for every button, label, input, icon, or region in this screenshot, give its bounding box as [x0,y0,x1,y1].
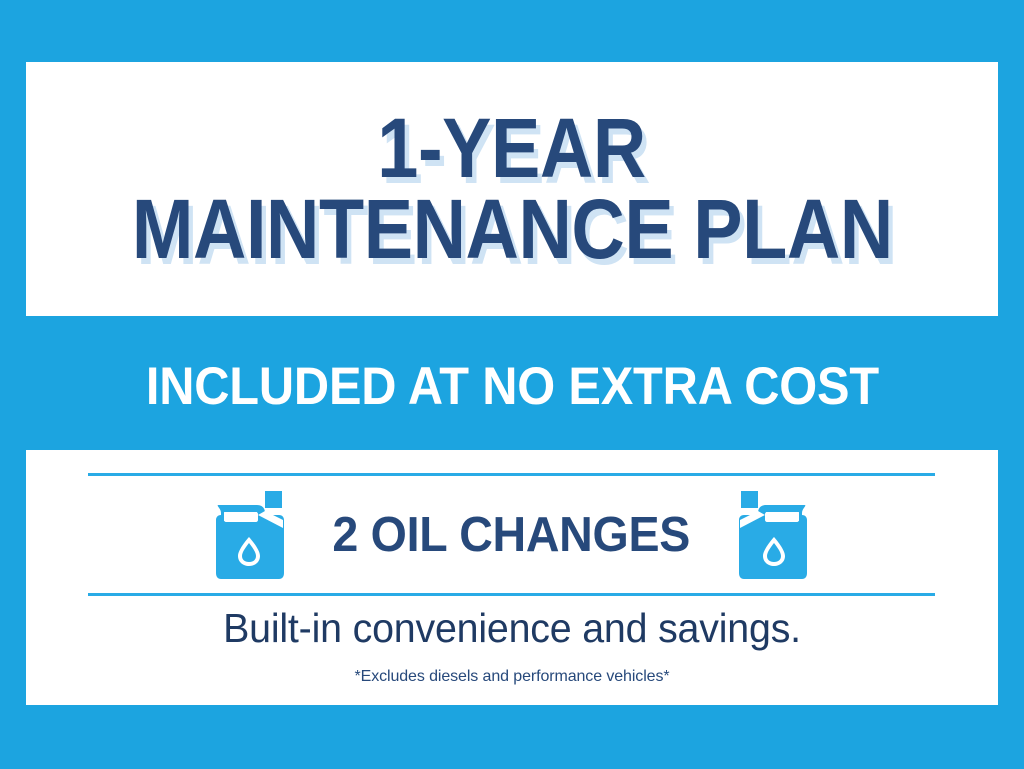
offer-row: 2 OIL CHANGES [88,476,935,593]
subtitle-band: INCLUDED AT NO EXTRA COST [26,330,998,442]
offer-label: 2 OIL CHANGES [333,507,691,563]
headline-line-1: 1-YEAR [378,110,646,187]
divider-bottom [88,593,935,596]
subtitle-text: INCLUDED AT NO EXTRA COST [145,356,878,417]
headline-line-2: MAINTENANCE PLAN [132,191,893,268]
fineprint-text: *Excludes diesels and performance vehicl… [26,668,998,686]
headline-card: 1-YEAR MAINTENANCE PLAN [26,62,998,316]
jug-handle-opening [765,512,799,522]
tagline-text: Built-in convenience and savings. [45,605,978,652]
oil-jug-icon-right [738,489,810,581]
promo-poster: 1-YEAR MAINTENANCE PLAN INCLUDED AT NO E… [0,0,1024,769]
detail-card: 2 OIL CHANGES Built-in convenience and s… [26,450,998,705]
oil-jug-icon-left [213,489,285,581]
jug-handle-opening [224,512,258,522]
